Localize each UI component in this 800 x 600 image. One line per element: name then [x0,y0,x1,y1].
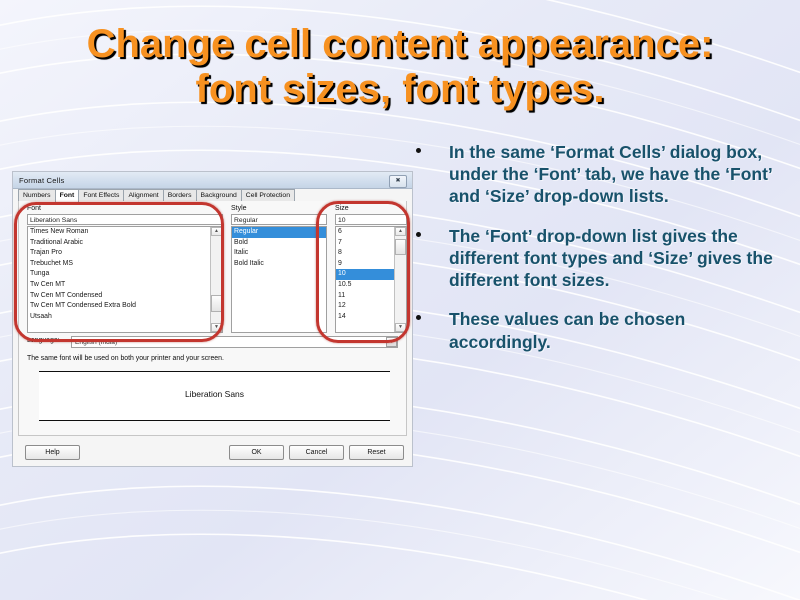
style-listbox[interactable]: Regular Bold Italic Bold Italic [231,226,327,333]
list-item[interactable]: 8 [336,248,395,259]
scroll-up-icon[interactable]: ▲ [395,227,406,236]
size-input[interactable]: 10 [335,214,407,225]
font-listbox[interactable]: Times New Roman Traditional Arabic Traja… [27,226,223,333]
list-item[interactable]: Utsaah [28,312,211,323]
language-select[interactable]: English (India) ▼ [71,336,398,348]
list-item: These values can be chosen accordingly. [409,308,785,352]
list-item[interactable]: Trajan Pro [28,248,211,259]
list-item[interactable]: Traditional Arabic [28,238,211,249]
list-item[interactable]: Bold Italic [232,259,326,270]
scroll-down-icon[interactable]: ▼ [395,323,406,332]
size-list-scrollbar[interactable]: ▲ ▼ [394,227,406,332]
list-item[interactable]: 14 [336,312,395,323]
list-item[interactable]: 10 [336,269,395,280]
page-title: Change cell content appearance: font siz… [0,22,800,112]
list-item-text: These values can be chosen accordingly. [449,309,685,351]
bullet-dot-icon [416,232,421,237]
scroll-up-icon[interactable]: ▲ [211,227,222,236]
font-label: Font [27,205,223,212]
help-button[interactable]: Help [25,445,80,460]
chevron-down-icon[interactable]: ▼ [386,337,397,347]
language-label: Language: [27,337,60,344]
font-note: The same font will be used on both your … [27,355,224,362]
font-input[interactable]: Liberation Sans [27,214,223,225]
bullet-dot-icon [416,315,421,320]
font-column: Font Liberation Sans Times New Roman Tra… [27,205,223,333]
scrollbar-thumb[interactable] [395,239,406,255]
list-item[interactable]: 9 [336,259,395,270]
list-item[interactable]: Tw Cen MT Condensed [28,291,211,302]
font-preview: Liberation Sans [39,371,390,421]
list-item[interactable]: 11 [336,291,395,302]
list-item[interactable]: Tw Cen MT Condensed Extra Bold [28,301,211,312]
list-item[interactable]: 6 [336,227,395,238]
style-input[interactable]: Regular [231,214,327,225]
style-label: Style [231,205,327,212]
list-item: In the same ‘Format Cells’ dialog box, u… [409,141,785,208]
cancel-button[interactable]: Cancel [289,445,344,460]
scroll-down-icon[interactable]: ▼ [211,323,222,332]
list-item-text: In the same ‘Format Cells’ dialog box, u… [449,142,772,206]
format-cells-dialog: Format Cells ✖ NumbersFontFont EffectsAl… [13,172,412,466]
reset-button[interactable]: Reset [349,445,404,460]
slide: Change cell content appearance: font siz… [0,0,800,600]
list-item-text: The ‘Font’ drop-down list gives the diff… [449,226,773,290]
format-cells-screenshot: Format Cells ✖ NumbersFontFont EffectsAl… [13,172,412,466]
list-item[interactable]: Italic [232,248,326,259]
language-value: English (India) [75,339,117,346]
dialog-title: Format Cells [19,176,64,185]
close-icon[interactable]: ✖ [389,175,407,188]
dialog-button-row: Help OK Cancel Reset [18,445,407,460]
scrollbar-thumb[interactable] [211,295,222,312]
list-item[interactable]: Times New Roman [28,227,211,238]
font-list-scrollbar[interactable]: ▲ ▼ [210,227,222,332]
bullet-dot-icon [416,148,421,153]
list-item[interactable]: Bold [232,238,326,249]
style-list-items: Regular Bold Italic Bold Italic [232,227,326,269]
size-list-items: 6 7 8 9 10 10.5 11 12 14 [336,227,395,322]
list-item[interactable]: 12 [336,301,395,312]
font-list-items: Times New Roman Traditional Arabic Traja… [28,227,211,322]
list-item[interactable]: Regular [232,227,326,238]
size-column: Size 10 6 7 8 9 10 10.5 11 12 14 [335,205,407,333]
list-item[interactable]: Tw Cen MT [28,280,211,291]
list-item[interactable]: Trebuchet MS [28,259,211,270]
preview-text: Liberation Sans [39,389,390,399]
language-row: Language: English (India) ▼ [27,336,398,348]
list-item[interactable]: 10.5 [336,280,395,291]
size-listbox[interactable]: 6 7 8 9 10 10.5 11 12 14 ▲ [335,226,407,333]
ok-button[interactable]: OK [229,445,284,460]
dialog-titlebar: Format Cells ✖ [13,172,412,189]
list-item[interactable]: Tunga [28,269,211,280]
bullet-list: In the same ‘Format Cells’ dialog box, u… [409,141,785,370]
tab-font[interactable]: Font [55,189,80,202]
style-column: Style Regular Regular Bold Italic Bold I… [231,205,327,333]
list-item: The ‘Font’ drop-down list gives the diff… [409,225,785,292]
list-item[interactable]: 7 [336,238,395,249]
font-tab-panel: Font Liberation Sans Times New Roman Tra… [18,201,407,436]
size-label: Size [335,205,407,212]
